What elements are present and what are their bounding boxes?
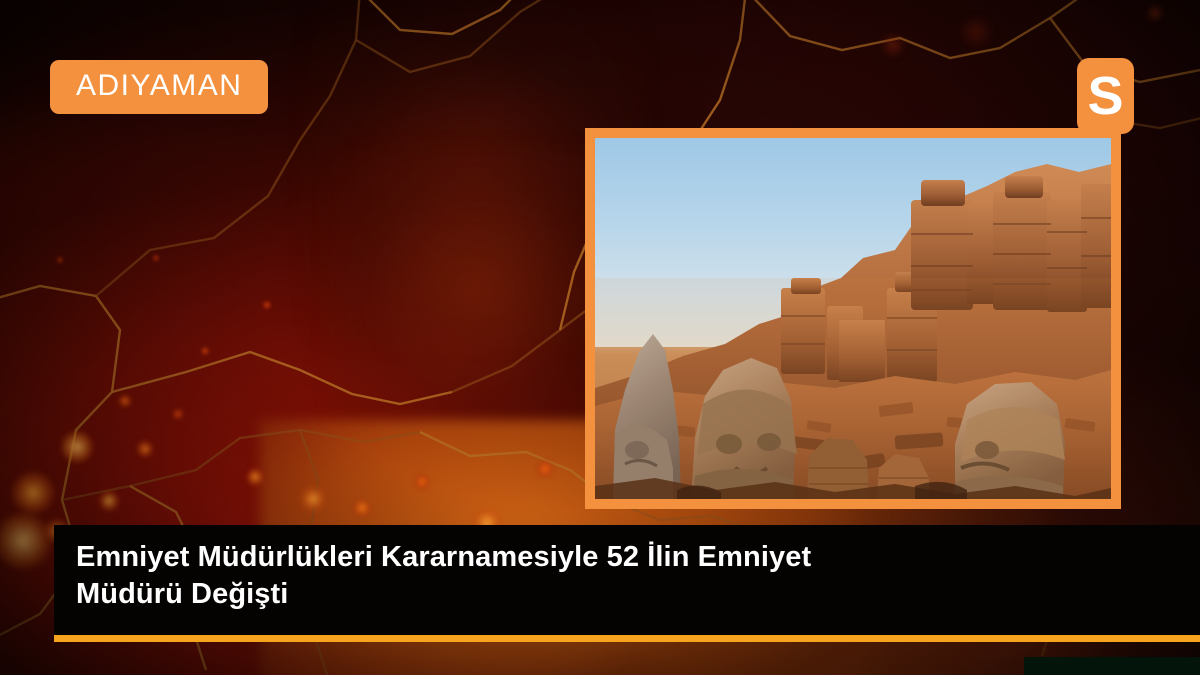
news-photo bbox=[595, 138, 1111, 499]
headline-accent-rule bbox=[54, 635, 1200, 642]
bottom-right-plate bbox=[1024, 657, 1200, 675]
news-photo-card[interactable] bbox=[585, 128, 1121, 509]
headline-block: Emniyet Müdürlükleri Kararnamesiyle 52 İ… bbox=[54, 525, 1200, 635]
headline-line-1: Emniyet Müdürlükleri Kararnamesiyle 52 İ… bbox=[76, 541, 811, 573]
nemrut-statues-illustration bbox=[595, 138, 1111, 499]
headline-line-2: Müdürü Değişti bbox=[76, 578, 288, 610]
news-card-canvas: ADIYAMAN S bbox=[0, 0, 1200, 675]
headline-title: Emniyet Müdürlükleri Kararnamesiyle 52 İ… bbox=[76, 539, 1182, 613]
city-badge[interactable]: ADIYAMAN bbox=[50, 60, 268, 114]
brand-logo[interactable]: S bbox=[1077, 58, 1134, 134]
